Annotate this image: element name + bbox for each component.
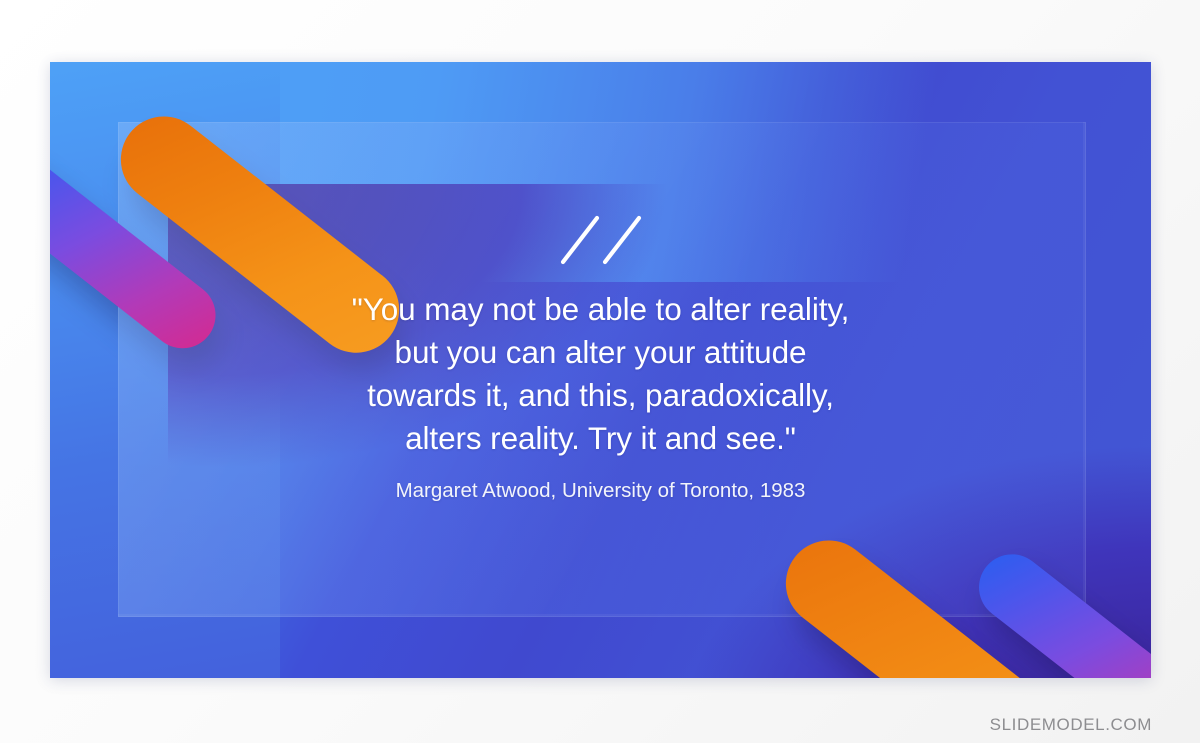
quote-line: alters reality. Try it and see." [50,417,1151,460]
quote-line: towards it, and this, paradoxically, [50,374,1151,417]
quote-attribution: Margaret Atwood, University of Toronto, … [50,477,1151,505]
page-canvas: "You may not be able to alter reality, b… [0,0,1200,743]
quote-line: but you can alter your attitude [50,331,1151,374]
quote-block: "You may not be able to alter reality, b… [50,212,1151,505]
quote-slide: "You may not be able to alter reality, b… [50,62,1151,678]
quote-text: "You may not be able to alter reality, b… [50,288,1151,460]
double-slash-quote-mark-icon [553,212,649,270]
quote-line: "You may not be able to alter reality, [50,288,1151,331]
slidemodel-watermark: SLIDEMODEL.COM [990,715,1152,735]
